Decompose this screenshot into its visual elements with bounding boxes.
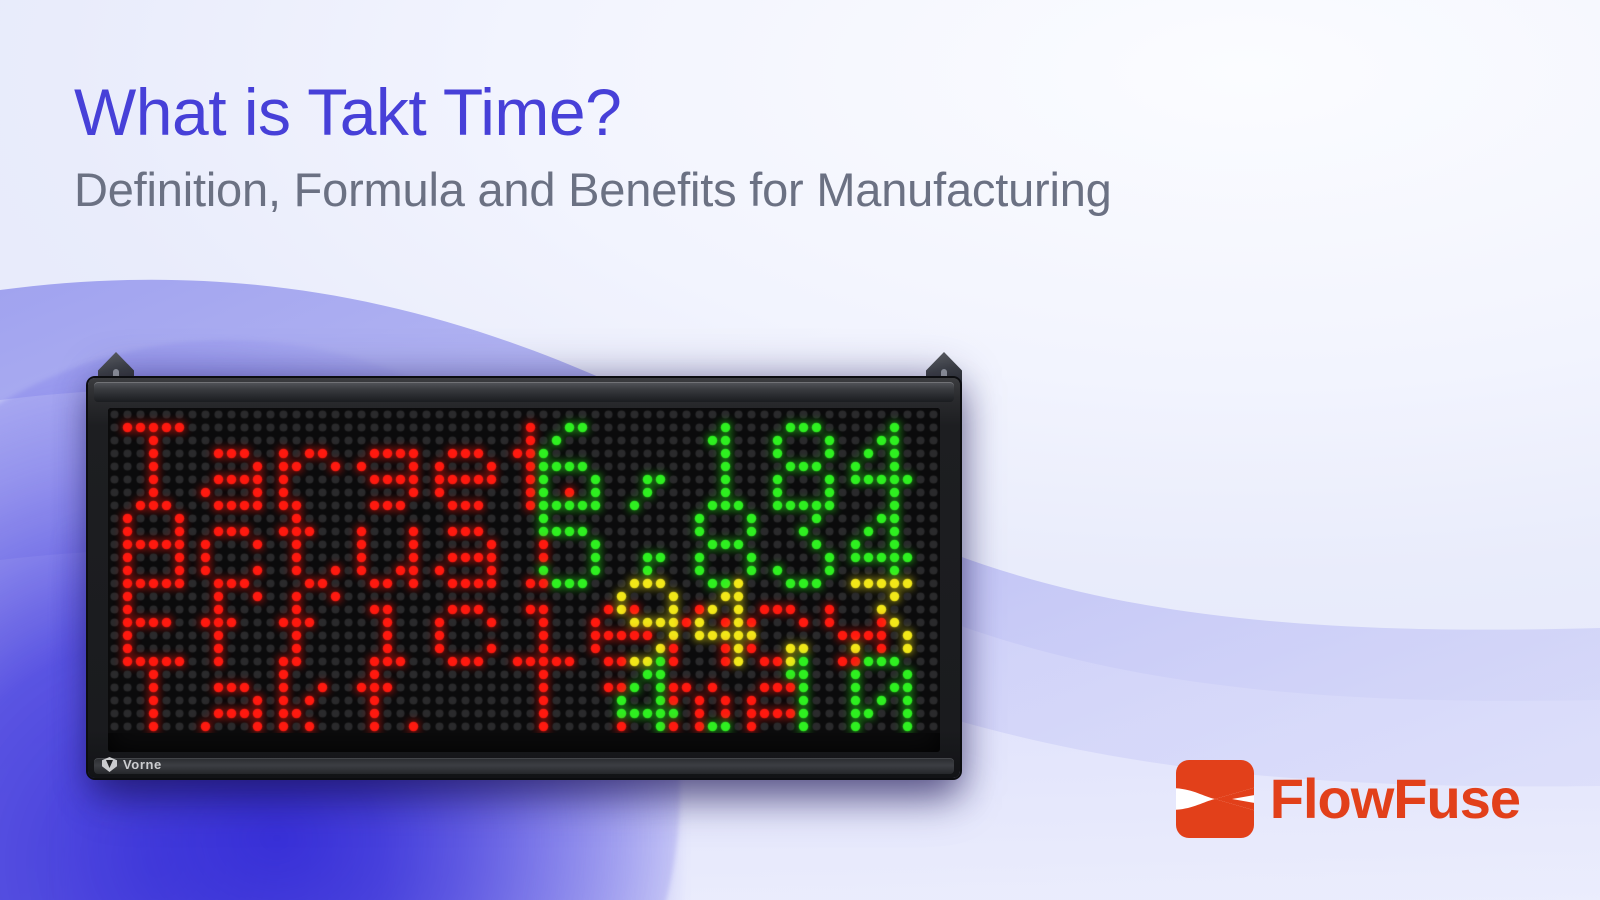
vorne-label: Vorne bbox=[123, 757, 162, 772]
vorne-branding: Vorne bbox=[102, 757, 162, 772]
page-subtitle: Definition, Formula and Benefits for Man… bbox=[74, 164, 1494, 217]
led-matrix-screen bbox=[108, 408, 940, 752]
poster-canvas: What is Takt Time? Definition, Formula a… bbox=[0, 0, 1600, 900]
flowfuse-wordmark: FlowFuse bbox=[1270, 771, 1520, 827]
led-scoreboard: Vorne bbox=[88, 352, 972, 792]
page-title: What is Takt Time? bbox=[74, 78, 1494, 148]
scoreboard-enclosure: Vorne bbox=[88, 378, 960, 778]
led-dot-matrix bbox=[108, 408, 940, 733]
flowfuse-logo-icon bbox=[1176, 760, 1254, 838]
flowfuse-brand[interactable]: FlowFuse bbox=[1176, 760, 1520, 838]
enclosure-top-rail bbox=[94, 382, 954, 402]
vorne-logo-icon bbox=[102, 757, 117, 772]
headline-block: What is Takt Time? Definition, Formula a… bbox=[74, 78, 1494, 217]
enclosure-bottom-rail bbox=[94, 758, 954, 774]
